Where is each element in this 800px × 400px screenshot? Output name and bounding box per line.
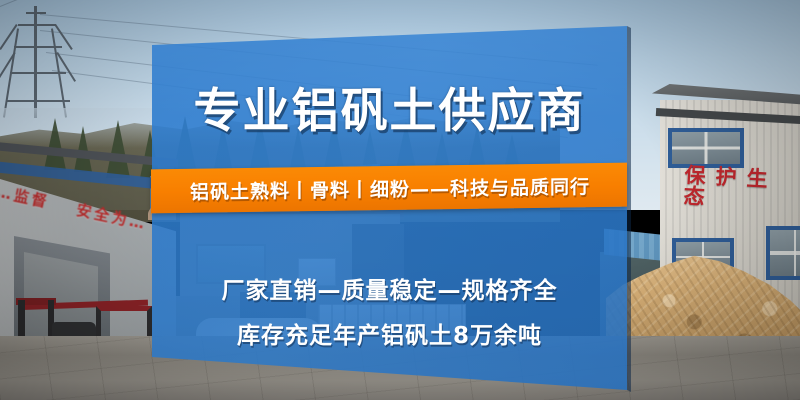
transmission-tower-icon: [4, 6, 74, 116]
headline-title: 专业铝矾土供应商: [152, 88, 627, 135]
window-mullions: [770, 230, 800, 276]
banner-image: …监督 安全为…: [0, 0, 800, 400]
window-mullions: [672, 132, 740, 164]
right-building-sign: 保护生态: [683, 165, 800, 213]
subline-two: 库存充足年产铝矾土8万余吨: [152, 316, 627, 350]
right-factory-window: [766, 226, 800, 280]
subline-one: 厂家直销—质量稳定—规格齐全: [152, 271, 627, 305]
orange-band-text: 铝矾土熟料丨骨料丨细粉——科技与品质同行: [152, 163, 628, 214]
right-factory-upper-window: [668, 128, 744, 168]
banner-content: 专业铝矾土供应商 铝矾土熟料丨骨料丨细粉——科技与品质同行 厂家直销—质量稳定—…: [152, 26, 627, 390]
